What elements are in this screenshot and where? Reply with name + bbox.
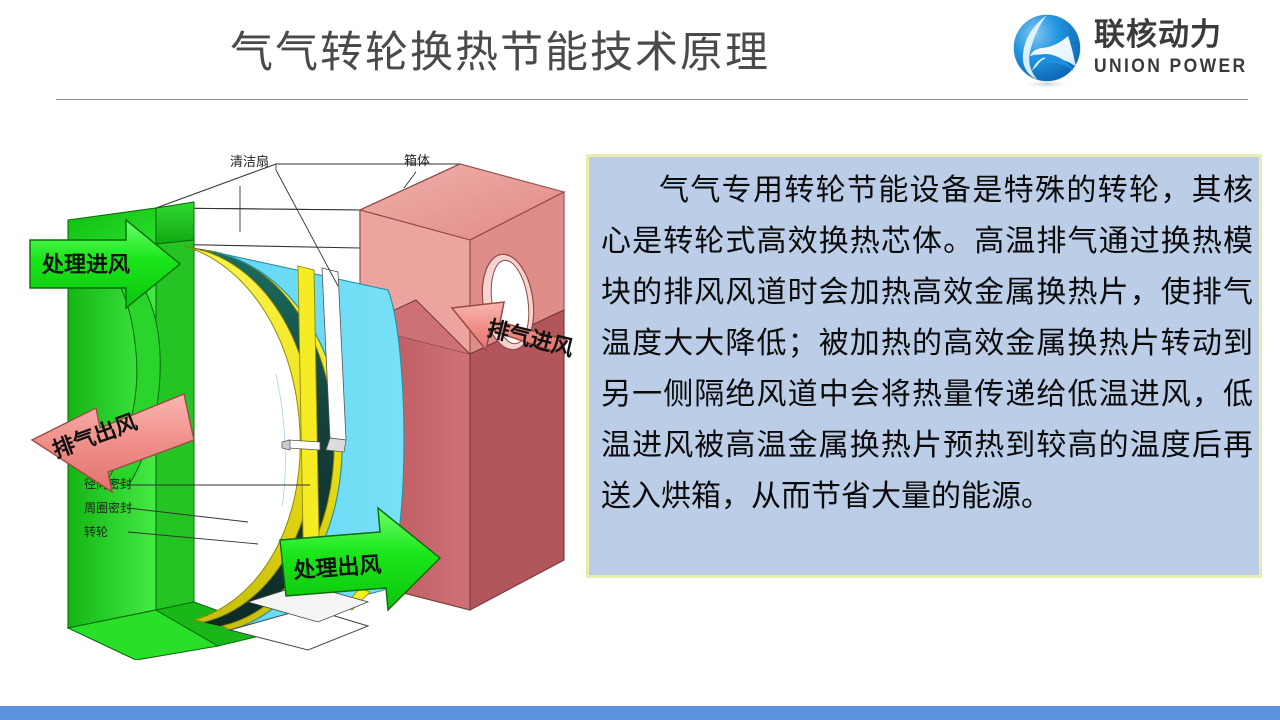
rotary-heat-exchanger-diagram: 清洁扇 箱体 径向密封 周圈密封 转轮 处理进风 排气进风 排气出风 处理出风 [8, 140, 578, 660]
brand-name-chinese: 联核动力 [1094, 16, 1270, 54]
callout-rotor-wheel: 转轮 [84, 524, 108, 539]
brand-logo: 联核动力 UNION POWER [1008, 12, 1270, 94]
description-panel: 气气专用转轮节能设备是特殊的转轮，其核心是转轮式高效换热芯体。高温排气通过换热模… [586, 154, 1262, 578]
header-divider [56, 99, 1248, 100]
callout-cleaning-fan: 清洁扇 [230, 154, 269, 170]
brand-name-english: UNION POWER [1094, 54, 1256, 80]
callout-circumferential-seal: 周圈密封 [84, 500, 132, 515]
page-title: 气气转轮换热节能技术原理 [0, 18, 1000, 80]
description-paragraph: 气气专用转轮节能设备是特殊的转轮，其核心是转轮式高效换热芯体。高温排气通过换热模… [601, 165, 1253, 522]
brand-wordmark: 联核动力 UNION POWER [1094, 16, 1270, 80]
callout-casing: 箱体 [404, 153, 430, 169]
union-power-sphere-icon [1008, 12, 1086, 90]
arrow-process-air-inlet-label: 处理进风 [41, 252, 130, 278]
footer-accent-bar [0, 706, 1280, 720]
